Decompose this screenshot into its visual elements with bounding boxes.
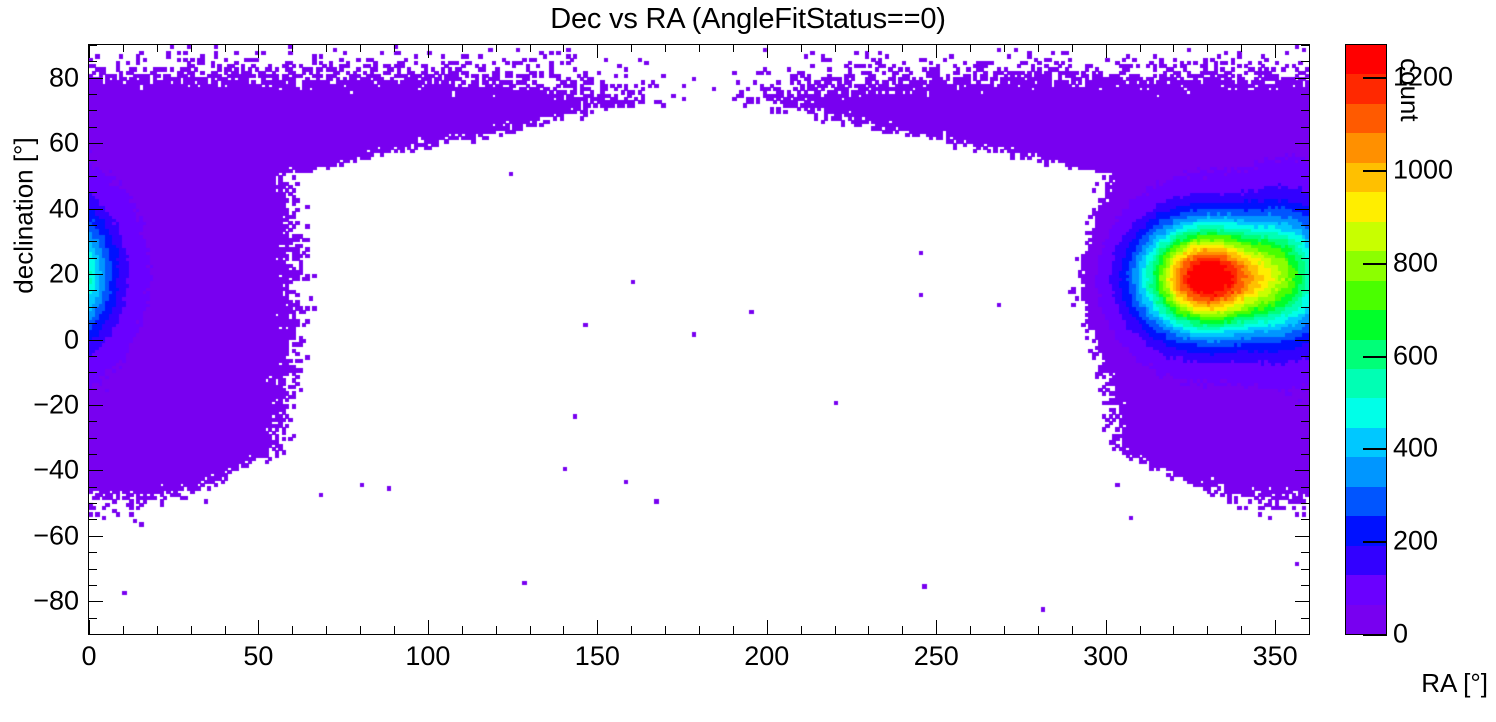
x-tick-label: 50 [243,641,273,672]
x-major-tick-top [89,44,90,58]
x-major-tick-top [597,44,598,58]
y-major-tick [89,143,103,144]
y-minor-tick [89,421,97,422]
colorbar-tick [1363,170,1387,172]
y-major-tick-right [1295,601,1309,602]
y-tick-label: −60 [0,520,79,551]
x-major-tick-top [1106,44,1107,58]
y-minor-tick [89,323,97,324]
colorbar-band [1346,546,1386,575]
x-minor-tick-top [394,44,395,52]
y-minor-tick-right [1301,192,1309,193]
chart-root: Dec vs RA (AngleFitStatus==0) 0501001502… [0,0,1496,722]
colorbar-band [1346,398,1386,428]
x-minor-tick-top [191,44,192,52]
y-minor-tick-right [1301,45,1309,46]
y-major-tick-right [1295,143,1309,144]
colorbar-band [1346,310,1386,340]
x-minor-tick [360,626,361,634]
y-minor-tick [89,438,97,439]
y-minor-tick-right [1301,323,1309,324]
x-minor-tick-top [496,44,497,52]
x-minor-tick [191,626,192,634]
x-minor-tick [563,626,564,634]
x-minor-tick-top [530,44,531,52]
x-minor-tick [665,626,666,634]
x-minor-tick-top [1140,44,1141,52]
colorbar-band [1346,369,1386,398]
y-major-tick-right [1295,405,1309,406]
x-minor-tick [292,626,293,634]
colorbar-band [1346,251,1386,281]
colorbar-tick-label: 0 [1393,619,1408,650]
x-tick-label: 300 [1083,641,1128,672]
y-minor-tick-right [1301,241,1309,242]
colorbar-tick-label: 600 [1393,340,1438,371]
y-minor-tick [89,454,97,455]
x-minor-tick [225,626,226,634]
x-major-tick [258,620,259,634]
y-minor-tick-right [1301,569,1309,570]
y-major-tick [89,601,103,602]
x-major-tick-top [258,44,259,58]
colorbar-band [1346,457,1386,487]
y-minor-tick [89,519,97,520]
x-minor-tick-top [1038,44,1039,52]
x-minor-tick-top [631,44,632,52]
heatmap-canvas [89,45,1309,634]
y-minor-tick [89,94,97,95]
y-major-tick-right [1295,209,1309,210]
x-minor-tick-top [1173,44,1174,52]
y-minor-tick-right [1301,307,1309,308]
y-major-tick-right [1295,340,1309,341]
x-major-tick-top [428,44,429,58]
x-minor-tick [1207,626,1208,634]
y-minor-tick-right [1301,634,1309,635]
plot-frame [88,44,1310,635]
x-minor-tick [1140,626,1141,634]
y-minor-tick-right [1301,94,1309,95]
y-minor-tick [89,61,97,62]
y-minor-tick-right [1301,503,1309,504]
colorbar-tick-label: 800 [1393,247,1438,278]
y-minor-tick-right [1301,127,1309,128]
y-major-tick [89,78,103,79]
x-minor-tick [326,626,327,634]
x-minor-tick-top [292,44,293,52]
y-major-tick [89,405,103,406]
x-minor-tick-top [225,44,226,52]
y-minor-tick-right [1301,372,1309,373]
y-minor-tick [89,372,97,373]
y-minor-tick [89,241,97,242]
x-minor-tick [1241,626,1242,634]
y-minor-tick-right [1301,61,1309,62]
x-major-tick [936,620,937,634]
y-minor-tick [89,307,97,308]
x-minor-tick [123,626,124,634]
chart-title: Dec vs RA (AngleFitStatus==0) [0,3,1496,36]
y-minor-tick [89,290,97,291]
x-major-tick [767,620,768,634]
y-minor-tick [89,503,97,504]
colorbar-tick-label: 200 [1393,526,1438,557]
x-minor-tick-top [902,44,903,52]
x-minor-tick-top [733,44,734,52]
y-minor-tick-right [1301,454,1309,455]
x-tick-label: 150 [575,641,620,672]
x-minor-tick [1173,626,1174,634]
y-minor-tick-right [1301,258,1309,259]
x-minor-tick [970,626,971,634]
y-minor-tick [89,552,97,553]
y-minor-tick [89,487,97,488]
y-minor-tick-right [1301,552,1309,553]
colorbar-tick [1363,263,1387,265]
x-tick-label: 250 [914,641,959,672]
x-minor-tick [496,626,497,634]
y-minor-tick [89,160,97,161]
x-minor-tick [801,626,802,634]
y-minor-tick [89,225,97,226]
y-major-tick [89,340,103,341]
y-minor-tick [89,618,97,619]
y-tick-label: 0 [0,324,79,355]
y-minor-tick [89,634,97,635]
x-major-tick-top [767,44,768,58]
colorbar-band [1346,104,1386,133]
x-minor-tick [699,626,700,634]
colorbar-band [1346,575,1386,605]
colorbar-tick-label: 1000 [1393,155,1453,186]
y-minor-tick [89,45,97,46]
y-major-tick-right [1295,274,1309,275]
x-minor-tick [530,626,531,634]
x-minor-tick [1072,626,1073,634]
y-minor-tick-right [1301,519,1309,520]
y-major-tick [89,470,103,471]
colorbar-band [1346,163,1386,192]
x-minor-tick-top [1072,44,1073,52]
x-major-tick-top [936,44,937,58]
colorbar [1345,44,1387,635]
x-minor-tick [835,626,836,634]
y-minor-tick-right [1301,225,1309,226]
x-minor-tick [902,626,903,634]
colorbar-band [1346,45,1386,74]
y-minor-tick-right [1301,421,1309,422]
y-major-tick [89,274,103,275]
colorbar-band [1346,192,1386,222]
colorbar-band [1346,222,1386,251]
x-minor-tick [1004,626,1005,634]
colorbar-tick [1363,356,1387,358]
x-tick-label: 350 [1253,641,1298,672]
y-minor-tick-right [1301,160,1309,161]
y-major-tick [89,536,103,537]
x-minor-tick [868,626,869,634]
x-major-tick [428,620,429,634]
x-major-tick [597,620,598,634]
y-tick-label: −20 [0,389,79,420]
x-major-tick [89,620,90,634]
y-minor-tick-right [1301,487,1309,488]
x-minor-tick [733,626,734,634]
x-minor-tick [1038,626,1039,634]
colorbar-tick-label: 400 [1393,433,1438,464]
x-major-tick [1275,620,1276,634]
colorbar-band [1346,133,1386,163]
colorbar-tick [1363,634,1387,636]
x-minor-tick [1309,626,1310,634]
colorbar-band [1346,281,1386,310]
x-minor-tick-top [123,44,124,52]
colorbar-tick [1363,77,1387,79]
y-minor-tick [89,389,97,390]
x-minor-tick-top [970,44,971,52]
x-major-tick-top [1275,44,1276,58]
y-minor-tick-right [1301,290,1309,291]
y-minor-tick [89,110,97,111]
x-minor-tick-top [835,44,836,52]
x-minor-tick [394,626,395,634]
colorbar-band [1346,428,1386,457]
colorbar-tick [1363,448,1387,450]
y-major-tick-right [1295,470,1309,471]
colorbar-tick [1363,541,1387,543]
y-minor-tick [89,569,97,570]
x-minor-tick-top [868,44,869,52]
y-minor-tick [89,258,97,259]
x-minor-tick [631,626,632,634]
y-minor-tick [89,176,97,177]
colorbar-band [1346,605,1386,634]
x-minor-tick-top [157,44,158,52]
x-minor-tick-top [801,44,802,52]
colorbar-band [1346,487,1386,516]
y-major-tick-right [1295,78,1309,79]
x-minor-tick [462,626,463,634]
y-minor-tick [89,356,97,357]
y-axis-title: declination [°] [9,106,40,326]
colorbar-band [1346,340,1386,369]
x-minor-tick-top [1309,44,1310,52]
x-minor-tick-top [1207,44,1208,52]
y-major-tick-right [1295,536,1309,537]
y-minor-tick-right [1301,585,1309,586]
x-tick-label: 100 [405,641,450,672]
y-tick-label: 80 [0,62,79,93]
x-tick-label: 200 [744,641,789,672]
x-minor-tick-top [462,44,463,52]
x-minor-tick-top [563,44,564,52]
x-minor-tick-top [665,44,666,52]
x-tick-label: 0 [81,641,96,672]
y-minor-tick [89,192,97,193]
x-minor-tick [157,626,158,634]
x-minor-tick-top [1004,44,1005,52]
y-tick-label: −80 [0,586,79,617]
x-minor-tick-top [360,44,361,52]
y-minor-tick-right [1301,438,1309,439]
y-minor-tick-right [1301,176,1309,177]
x-major-tick [1106,620,1107,634]
y-minor-tick [89,127,97,128]
y-minor-tick-right [1301,389,1309,390]
y-minor-tick-right [1301,356,1309,357]
y-major-tick [89,209,103,210]
x-axis-title: RA [°] [1421,668,1488,699]
y-tick-label: −40 [0,455,79,486]
colorbar-title: count [1394,58,1425,122]
x-minor-tick-top [326,44,327,52]
y-minor-tick-right [1301,618,1309,619]
y-minor-tick-right [1301,110,1309,111]
x-minor-tick-top [699,44,700,52]
y-minor-tick [89,585,97,586]
x-minor-tick-top [1241,44,1242,52]
